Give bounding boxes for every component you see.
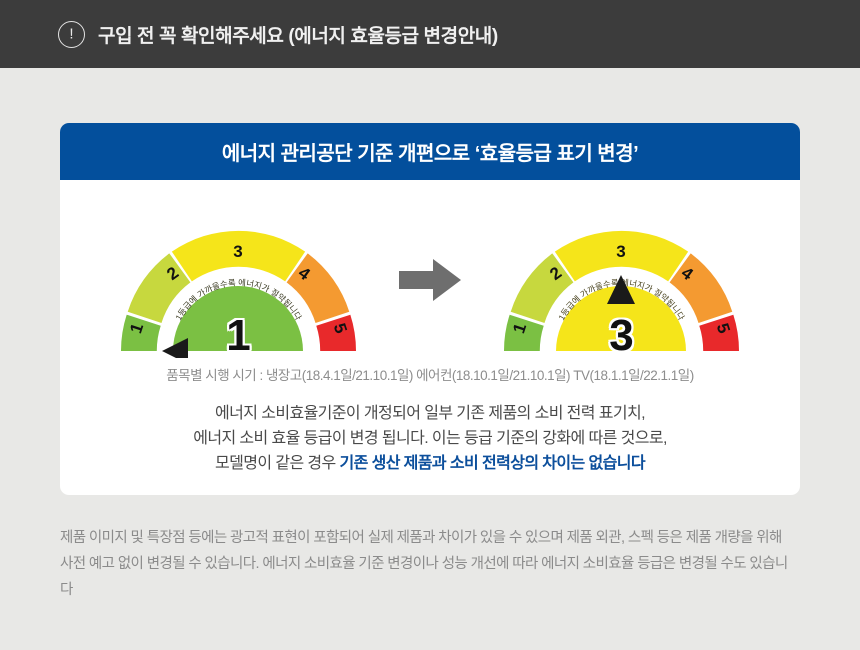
notice-paragraph-line-1: 에너지 소비효율기준이 개정되어 일부 기존 제품의 소비 전력 표기치,	[60, 401, 800, 426]
notice-header-title: 구입 전 꼭 확인해주세요 (에너지 효율등급 변경안내)	[98, 21, 498, 48]
notice-paragraph: 에너지 소비효율기준이 개정되어 일부 기존 제품의 소비 전력 표기치, 에너…	[60, 401, 800, 476]
exclamation-mark: !	[69, 26, 73, 41]
implementation-schedule-caption: 품목별 시행 시기 : 냉장고(18.4.1일/21.10.1일) 에어컨(18…	[60, 364, 800, 384]
energy-grade-notice-card: 에너지 관리공단 기준 개편으로 ‘효율등급 표기 변경’	[60, 123, 800, 495]
energy-gauge-after: 1 2 3 4 5 1등급에 가까울수록 에너지가 절약됩니다 3	[499, 218, 744, 358]
notice-paragraph-line-2: 에너지 소비 효율 등급이 변경 됩니다. 이는 등급 기준의 강화에 따른 것…	[60, 426, 800, 451]
svg-text:3: 3	[616, 242, 625, 261]
gauge-grade-value-before: 1	[116, 314, 361, 358]
gauge-grade-value-after: 3	[499, 314, 744, 358]
card-header-band: 에너지 관리공단 기준 개편으로 ‘효율등급 표기 변경’	[60, 123, 800, 180]
svg-text:3: 3	[233, 242, 242, 261]
notice-paragraph-highlight: 기존 생산 제품과 소비 전력상의 차이는 없습니다	[340, 455, 645, 472]
energy-gauge-before: 1 2 3 4 5 1등급에 가까울수록 에너지가 절약됩니다 1	[116, 218, 361, 358]
notice-paragraph-line-3-plain: 모델명이 같은 경우	[215, 455, 340, 472]
exclamation-circle-icon: !	[58, 21, 85, 48]
notice-paragraph-line-3: 모델명이 같은 경우 기존 생산 제품과 소비 전력상의 차이는 없습니다	[60, 451, 800, 476]
legal-disclaimer-text: 제품 이미지 및 특장점 등에는 광고적 표현이 포함되어 실제 제품과 차이가…	[60, 525, 795, 603]
right-arrow-icon	[399, 259, 461, 306]
gauge-comparison-row: 1 2 3 4 5 1등급에 가까울수록 에너지가 절약됩니다 1	[60, 180, 800, 358]
card-header-title: 에너지 관리공단 기준 개편으로 ‘효율등급 표기 변경’	[222, 137, 638, 166]
notice-header-bar: ! 구입 전 꼭 확인해주세요 (에너지 효율등급 변경안내)	[0, 0, 860, 68]
